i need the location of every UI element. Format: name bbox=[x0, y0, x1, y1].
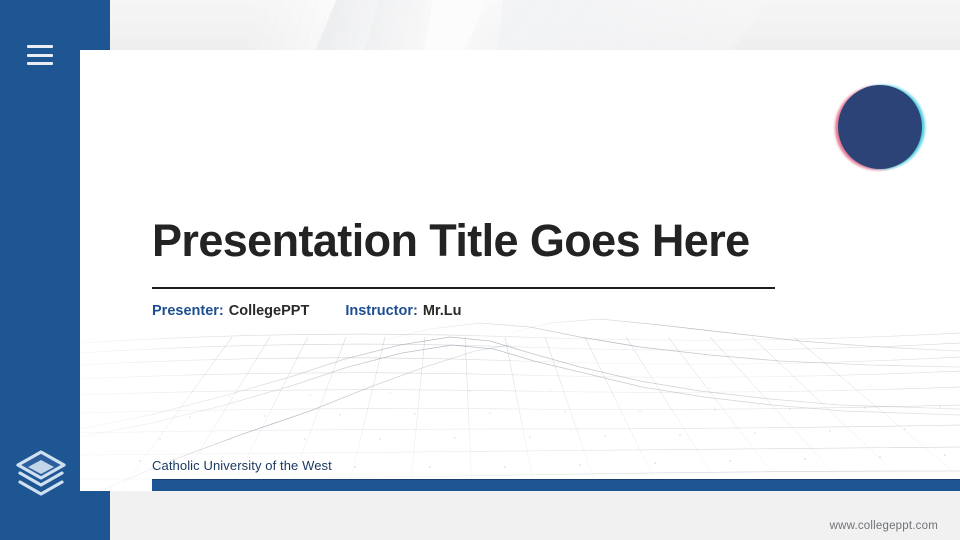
university-name: Catholic University of the West bbox=[152, 458, 332, 473]
presentation-viewer: www.collegeppt.com bbox=[0, 0, 960, 540]
presenter-meta-row: Presenter: CollegePPT Instructor: Mr.Lu bbox=[152, 303, 777, 319]
slide-bottom-bar bbox=[152, 479, 960, 491]
page-title: Presentation Title Goes Here bbox=[152, 218, 777, 265]
presenter-label: Presenter: bbox=[152, 303, 224, 319]
layers-stack-icon[interactable] bbox=[14, 448, 68, 500]
hamburger-bar-3 bbox=[27, 62, 53, 65]
footer-url: www.collegeppt.com bbox=[830, 520, 938, 532]
chromatic-circle-icon bbox=[838, 85, 922, 169]
circle-core bbox=[838, 85, 922, 169]
hamburger-menu-icon[interactable] bbox=[27, 45, 53, 65]
title-block: Presentation Title Goes Here Presenter: … bbox=[152, 218, 777, 319]
canvas-top-band bbox=[0, 0, 960, 50]
instructor-meta: Instructor: Mr.Lu bbox=[345, 303, 461, 319]
instructor-label: Instructor: bbox=[345, 303, 418, 319]
title-divider bbox=[152, 287, 775, 289]
presenter-meta: Presenter: CollegePPT bbox=[152, 303, 309, 319]
hamburger-bar-1 bbox=[27, 45, 53, 48]
slide-canvas[interactable]: Presentation Title Goes Here Presenter: … bbox=[80, 50, 960, 491]
instructor-value: Mr.Lu bbox=[423, 303, 462, 319]
hamburger-bar-2 bbox=[27, 54, 53, 57]
background-swoosh-4 bbox=[493, 0, 768, 50]
presenter-value: CollegePPT bbox=[229, 303, 310, 319]
canvas-bottom-band: www.collegeppt.com bbox=[0, 491, 960, 540]
